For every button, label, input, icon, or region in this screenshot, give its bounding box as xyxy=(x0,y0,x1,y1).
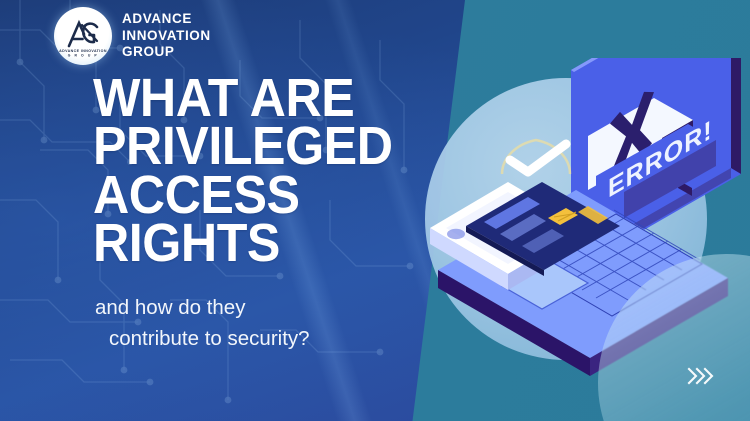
headline: WHAT ARE PRIVILEGED ACCESS RIGHTS xyxy=(93,74,393,267)
banner-root: ERROR! xyxy=(0,0,750,421)
subheadline-line-2: contribute to security? xyxy=(95,323,310,354)
brand-logo[interactable]: ADVANCE INNOVATION G R O U P ADVANCE INN… xyxy=(54,7,211,65)
headline-line-4: RIGHTS xyxy=(93,219,393,267)
home-button xyxy=(447,229,465,239)
subheadline-line-1: and how do they xyxy=(95,292,310,323)
logo-badge-icon: ADVANCE INNOVATION G R O U P xyxy=(54,7,112,65)
brand-name-line-1: ADVANCE xyxy=(122,11,211,27)
headline-line-3: ACCESS xyxy=(93,171,393,219)
headline-line-1: WHAT ARE xyxy=(93,74,393,122)
subheadline: and how do they contribute to security? xyxy=(95,292,310,354)
double-chevron-right-icon xyxy=(686,366,714,386)
brand-name-line-3: GROUP xyxy=(122,44,211,60)
brand-name: ADVANCE INNOVATION GROUP xyxy=(122,11,211,60)
brand-name-line-2: INNOVATION xyxy=(122,28,211,44)
ag-monogram-icon: ADVANCE INNOVATION G R O U P xyxy=(58,11,108,61)
logo-badge-tagline-1: ADVANCE INNOVATION xyxy=(59,49,107,53)
headline-line-2: PRIVILEGED xyxy=(93,122,393,170)
logo-badge-tagline-2: G R O U P xyxy=(68,53,99,57)
